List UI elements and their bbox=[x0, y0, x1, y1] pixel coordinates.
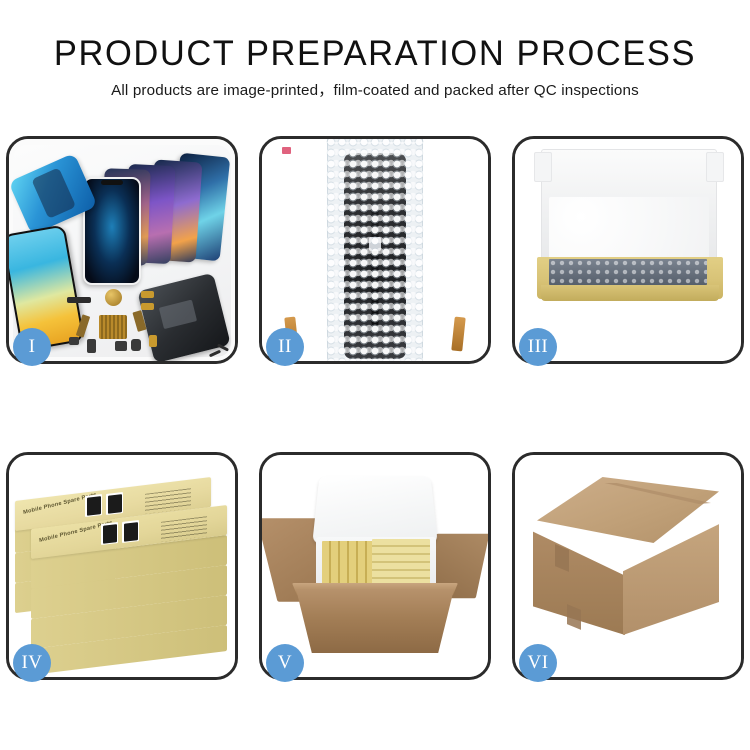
step-image-6 bbox=[515, 455, 741, 677]
page-subtitle: All products are image-printed，film-coat… bbox=[0, 80, 750, 102]
step-panel-4[interactable]: Mobile Phone Spare Parts Mobile Phone Sp… bbox=[6, 452, 238, 680]
carton-with-foam-box-illustration bbox=[262, 455, 488, 677]
step-panel-1[interactable]: I bbox=[6, 136, 238, 364]
step-image-5 bbox=[262, 455, 488, 677]
step-badge-5: V bbox=[266, 644, 304, 682]
step-panel-6[interactable]: VI bbox=[512, 452, 744, 680]
step-image-3 bbox=[515, 139, 741, 361]
step-image-2 bbox=[262, 139, 488, 361]
step-badge-3: III bbox=[519, 328, 557, 366]
open-yellow-box-with-foam-illustration bbox=[515, 139, 741, 361]
step-image-4: Mobile Phone Spare Parts Mobile Phone Sp… bbox=[9, 455, 235, 677]
page-header: PRODUCT PREPARATION PROCESS All products… bbox=[0, 0, 750, 102]
step-badge-6: VI bbox=[519, 644, 557, 682]
step-badge-1: I bbox=[13, 328, 51, 366]
page-title: PRODUCT PREPARATION PROCESS bbox=[6, 34, 745, 74]
phone-screens-and-spare-parts-illustration bbox=[9, 139, 235, 361]
step-badge-4: IV bbox=[13, 644, 51, 682]
stacked-printed-boxes-illustration: Mobile Phone Spare Parts Mobile Phone Sp… bbox=[9, 455, 235, 677]
process-step-grid: I II II bbox=[6, 136, 744, 680]
screen-wrapped-in-bubble-wrap-illustration bbox=[262, 139, 488, 361]
sealed-shipping-carton-illustration bbox=[515, 455, 741, 677]
step-image-1 bbox=[9, 139, 235, 361]
step-badge-2: II bbox=[266, 328, 304, 366]
step-panel-5[interactable]: V bbox=[259, 452, 491, 680]
step-panel-2[interactable]: II bbox=[259, 136, 491, 364]
step-panel-3[interactable]: III bbox=[512, 136, 744, 364]
